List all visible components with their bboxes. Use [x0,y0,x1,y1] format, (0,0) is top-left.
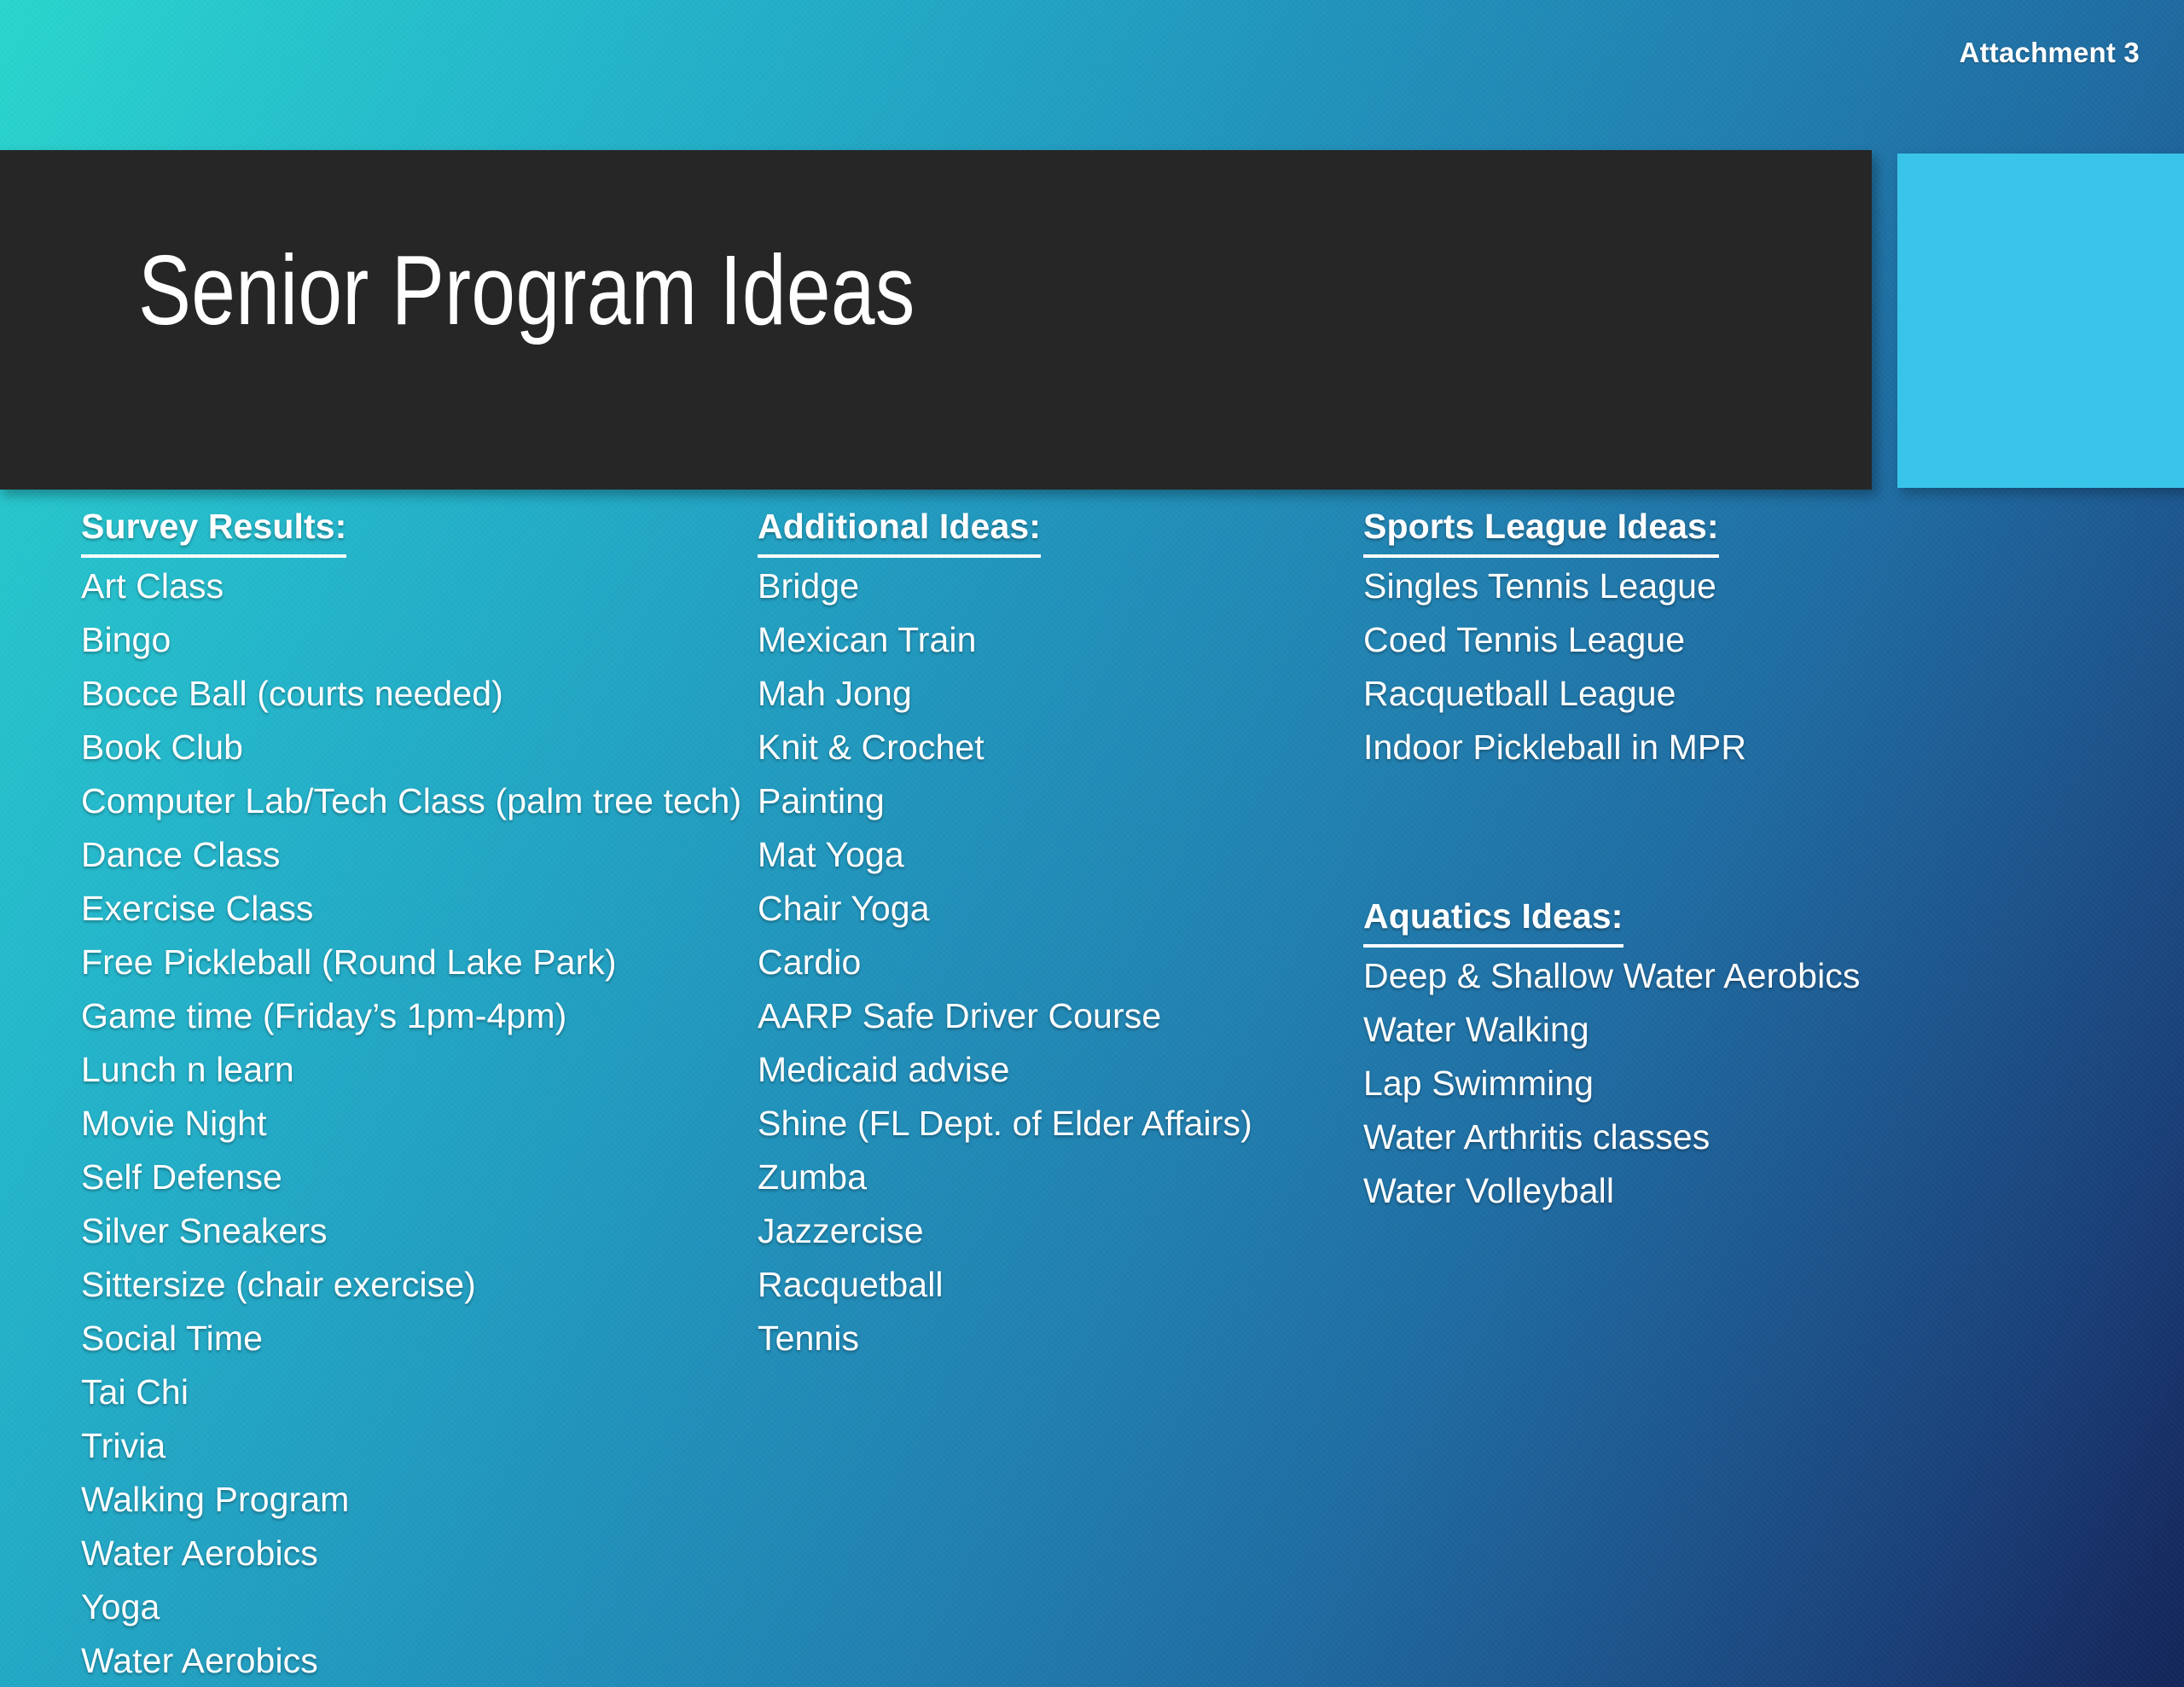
slide-canvas: Attachment 3 Senior Program Ideas Survey… [0,0,2184,1687]
list-item: Shine (FL Dept. of Elder Affairs) [758,1097,1338,1151]
survey-results-list: Art ClassBingoBocce Ball (courts needed)… [81,559,764,1687]
list-item: Knit & Crochet [758,721,1338,774]
column-aquatics-ideas: Aquatics Ideas: Deep & Shallow Water Aer… [1363,890,2012,1218]
column-survey-results: Survey Results: Art ClassBingoBocce Ball… [81,500,764,1687]
list-item: Bocce Ball (courts needed) [81,667,764,721]
list-item: Art Class [81,559,764,613]
list-item: Lap Swimming [1363,1057,2012,1110]
list-item: Coed Tennis League [1363,613,2012,667]
list-item: Sittersize (chair exercise) [81,1258,764,1312]
list-item: Racquetball [758,1258,1338,1312]
list-item: Bridge [758,559,1338,613]
column-heading: Aquatics Ideas: [1363,890,1623,948]
list-item: Medicaid advise [758,1043,1338,1097]
list-item: Water Walking [1363,1003,2012,1057]
column-heading: Additional Ideas: [758,500,1041,558]
list-item: Water Aerobics [81,1634,764,1687]
list-item: Tennis [758,1312,1338,1365]
list-item: Water Aerobics [81,1527,764,1580]
list-item: Cardio [758,936,1338,989]
content-columns: Survey Results: Art ClassBingoBocce Ball… [0,0,2184,1687]
list-item: Social Time [81,1312,764,1365]
list-item: Free Pickleball (Round Lake Park) [81,936,764,989]
list-item: Computer Lab/Tech Class (palm tree tech) [81,774,764,828]
list-item: Lunch n learn [81,1043,764,1097]
list-item: Mat Yoga [758,828,1338,882]
list-item: Dance Class [81,828,764,882]
list-item: Indoor Pickleball in MPR [1363,721,2012,774]
list-item: Trivia [81,1419,764,1473]
sports-league-ideas-list: Singles Tennis LeagueCoed Tennis LeagueR… [1363,559,2012,774]
list-item: Walking Program [81,1473,764,1527]
list-item: Racquetball League [1363,667,2012,721]
column-additional-ideas: Additional Ideas: BridgeMexican TrainMah… [758,500,1338,1365]
list-item: Game time (Friday’s 1pm-4pm) [81,989,764,1043]
list-item: Water Volleyball [1363,1164,2012,1218]
column-heading: Sports League Ideas: [1363,500,1719,558]
list-item: Jazzercise [758,1204,1338,1258]
list-item: Bingo [81,613,764,667]
column-sports-league-ideas: Sports League Ideas: Singles Tennis Leag… [1363,500,2012,774]
list-item: Silver Sneakers [81,1204,764,1258]
list-item: Yoga [81,1580,764,1634]
aquatics-ideas-list: Deep & Shallow Water AerobicsWater Walki… [1363,949,2012,1218]
additional-ideas-list: BridgeMexican TrainMah JongKnit & Croche… [758,559,1338,1365]
list-item: Deep & Shallow Water Aerobics [1363,949,2012,1003]
list-item: Movie Night [81,1097,764,1151]
list-item: Mah Jong [758,667,1338,721]
list-item: Chair Yoga [758,882,1338,936]
list-item: Mexican Train [758,613,1338,667]
list-item: AARP Safe Driver Course [758,989,1338,1043]
list-item: Book Club [81,721,764,774]
list-item: Painting [758,774,1338,828]
list-item: Tai Chi [81,1365,764,1419]
list-item: Zumba [758,1151,1338,1204]
list-item: Exercise Class [81,882,764,936]
list-item: Self Defense [81,1151,764,1204]
list-item: Water Arthritis classes [1363,1110,2012,1164]
column-heading: Survey Results: [81,500,346,558]
list-item: Singles Tennis League [1363,559,2012,613]
attachment-label: Attachment 3 [1960,37,2140,69]
